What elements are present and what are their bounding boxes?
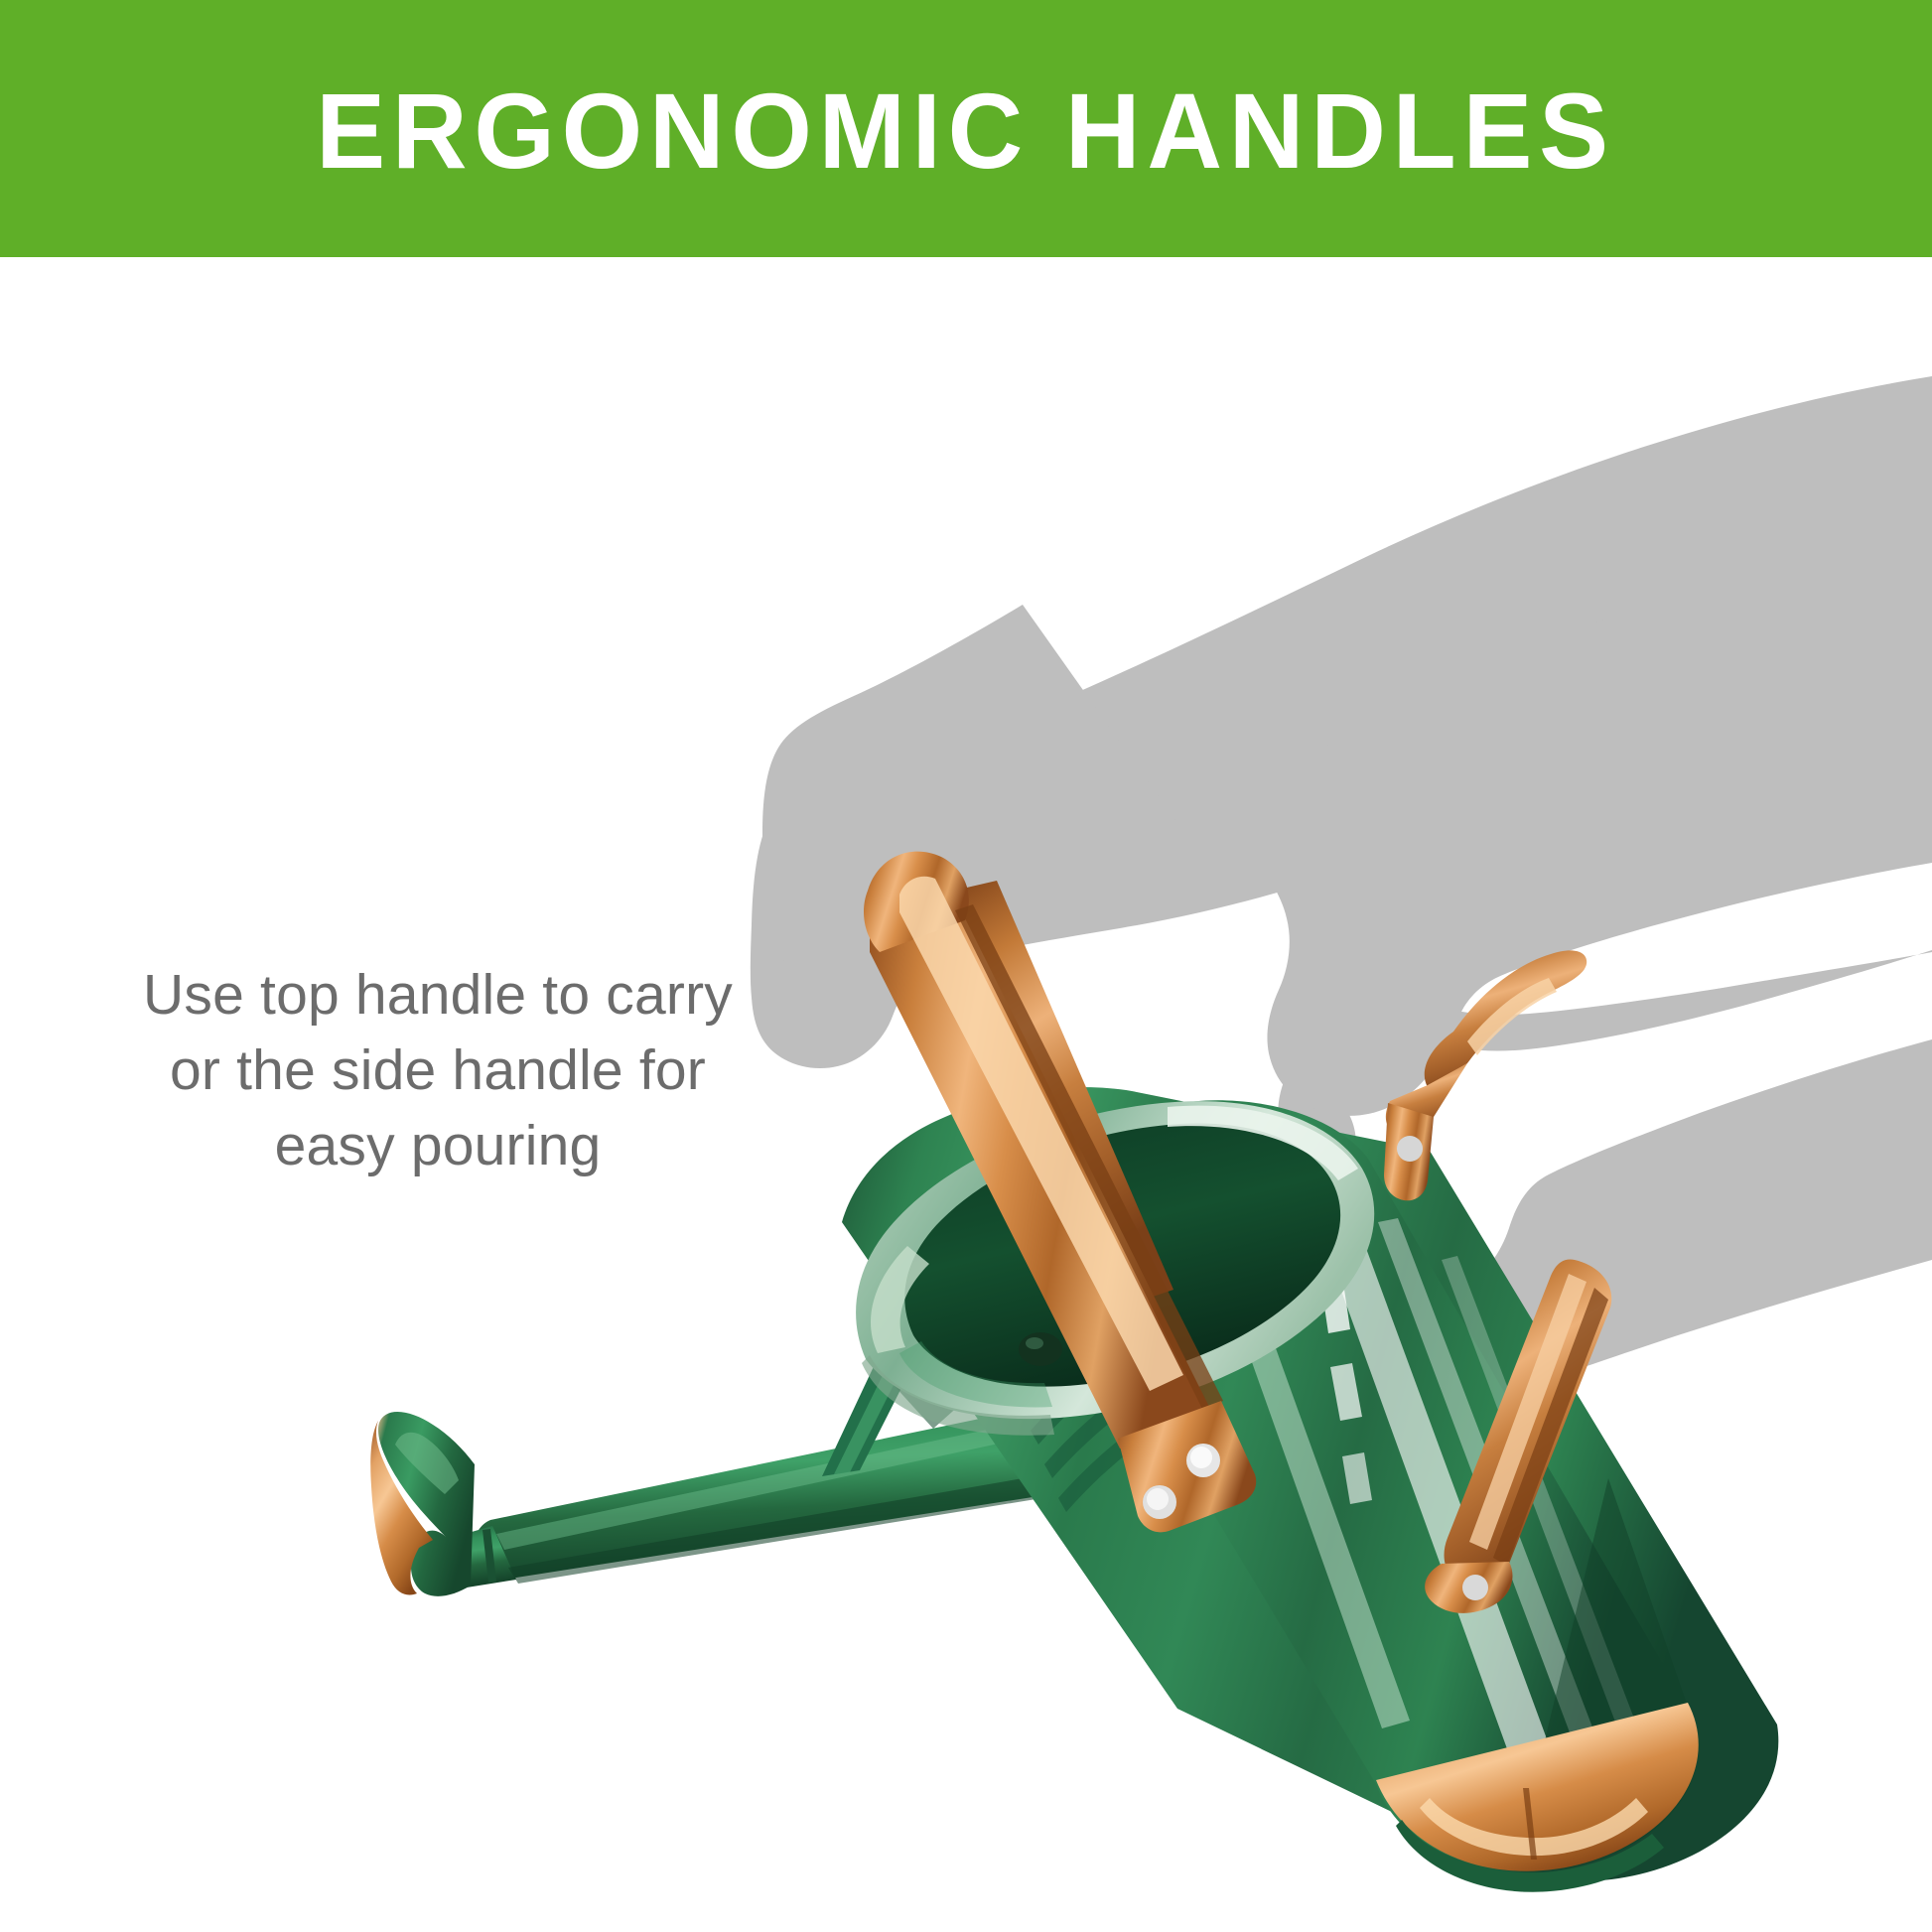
interior-bolt <box>1019 1332 1062 1366</box>
handle-rivet-upper-inner <box>1190 1447 1212 1468</box>
interior-bolt-highlight <box>1026 1337 1043 1349</box>
infographic-page: ERGONOMIC HANDLES Use top handle to carr… <box>0 0 1932 1932</box>
side-handle-lower-rivet <box>1462 1575 1488 1600</box>
page-title: ERGONOMIC HANDLES <box>317 77 1616 185</box>
product-illustration <box>0 257 1932 1932</box>
watering-can-illustration <box>0 257 1932 1932</box>
side-handle-upper-rivet <box>1397 1136 1423 1162</box>
watering-can-body-group <box>370 852 1778 1892</box>
header-banner: ERGONOMIC HANDLES <box>0 0 1932 257</box>
handle-rivet-lower-inner <box>1147 1488 1169 1510</box>
